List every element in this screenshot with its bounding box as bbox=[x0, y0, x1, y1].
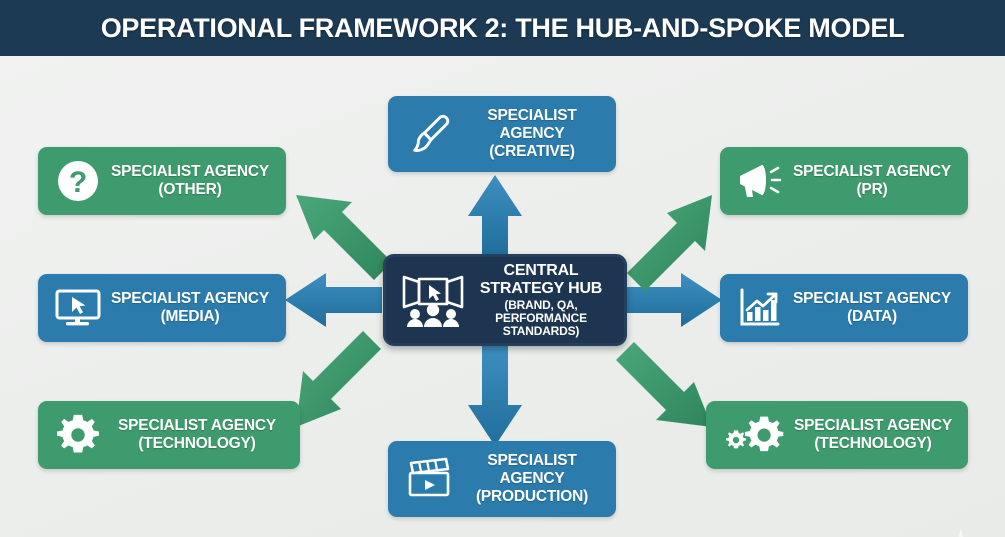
hub-title: CENTRAL STRATEGY HUB bbox=[470, 262, 612, 298]
gear-icon bbox=[50, 412, 106, 458]
presentation-board-team-icon bbox=[396, 271, 470, 329]
node-label: SPECIALIST AGENCY (PRODUCTION) bbox=[462, 452, 608, 506]
node-specialist-agency-data[interactable]: SPECIALIST AGENCY (DATA) bbox=[720, 274, 968, 342]
page-title: OPERATIONAL FRAMEWORK 2: THE HUB-AND-SPO… bbox=[101, 13, 905, 44]
arrow-hub-to-production bbox=[468, 345, 522, 446]
header-bar: OPERATIONAL FRAMEWORK 2: THE HUB-AND-SPO… bbox=[0, 0, 1005, 56]
node-label: SPECIALIST AGENCY (TECHNOLOGY) bbox=[790, 417, 962, 453]
monitor-cursor-icon bbox=[50, 286, 106, 330]
node-label: SPECIALIST AGENCY (TECHNOLOGY) bbox=[106, 417, 294, 453]
node-specialist-agency-production[interactable]: SPECIALIST AGENCY (PRODUCTION) bbox=[388, 441, 616, 517]
arrow-hub-to-other bbox=[296, 195, 392, 280]
node-label: SPECIALIST AGENCY (DATA) bbox=[788, 290, 962, 326]
node-specialist-agency-other[interactable]: ? SPECIALIST AGENCY (OTHER) bbox=[38, 147, 286, 215]
node-label: SPECIALIST AGENCY (PR) bbox=[788, 163, 962, 199]
paintbrush-icon bbox=[400, 111, 462, 157]
arrow-hub-to-media bbox=[285, 273, 382, 327]
svg-text:?: ? bbox=[69, 166, 87, 199]
node-specialist-agency-technology-left[interactable]: SPECIALIST AGENCY (TECHNOLOGY) bbox=[38, 401, 300, 469]
arrow-hub-to-technology-left bbox=[296, 331, 381, 427]
node-label: SPECIALIST AGENCY (CREATIVE) bbox=[462, 107, 608, 161]
megaphone-icon bbox=[732, 159, 788, 203]
node-label: SPECIALIST AGENCY (OTHER) bbox=[106, 163, 280, 199]
double-gear-icon bbox=[718, 411, 790, 459]
arrow-hub-to-technology-right bbox=[616, 342, 712, 427]
question-mark-circle-icon: ? bbox=[50, 157, 106, 205]
node-specialist-agency-pr[interactable]: SPECIALIST AGENCY (PR) bbox=[720, 147, 968, 215]
node-specialist-agency-creative[interactable]: SPECIALIST AGENCY (CREATIVE) bbox=[388, 96, 616, 172]
diagram-canvas: OPERATIONAL FRAMEWORK 2: THE HUB-AND-SPO… bbox=[0, 0, 1005, 537]
node-specialist-agency-technology-right[interactable]: SPECIALIST AGENCY (TECHNOLOGY) bbox=[706, 401, 968, 469]
arrow-hub-to-pr bbox=[627, 195, 712, 291]
clapperboard-play-icon bbox=[400, 456, 462, 502]
central-strategy-hub[interactable]: CENTRAL STRATEGY HUB (BRAND, QA, PERFORM… bbox=[383, 254, 627, 346]
arrow-hub-to-creative bbox=[468, 175, 522, 256]
diagram-stage: SPECIALIST AGENCY (CREATIVE) ? SPECIALIS… bbox=[0, 56, 1005, 537]
hub-subtitle: (BRAND, QA, PERFORMANCE STANDARDS) bbox=[470, 299, 612, 339]
hub-text-block: CENTRAL STRATEGY HUB (BRAND, QA, PERFORM… bbox=[470, 262, 616, 338]
bar-chart-growth-icon bbox=[732, 286, 788, 330]
node-label: SPECIALIST AGENCY (MEDIA) bbox=[106, 290, 280, 326]
node-specialist-agency-media[interactable]: SPECIALIST AGENCY (MEDIA) bbox=[38, 274, 286, 342]
